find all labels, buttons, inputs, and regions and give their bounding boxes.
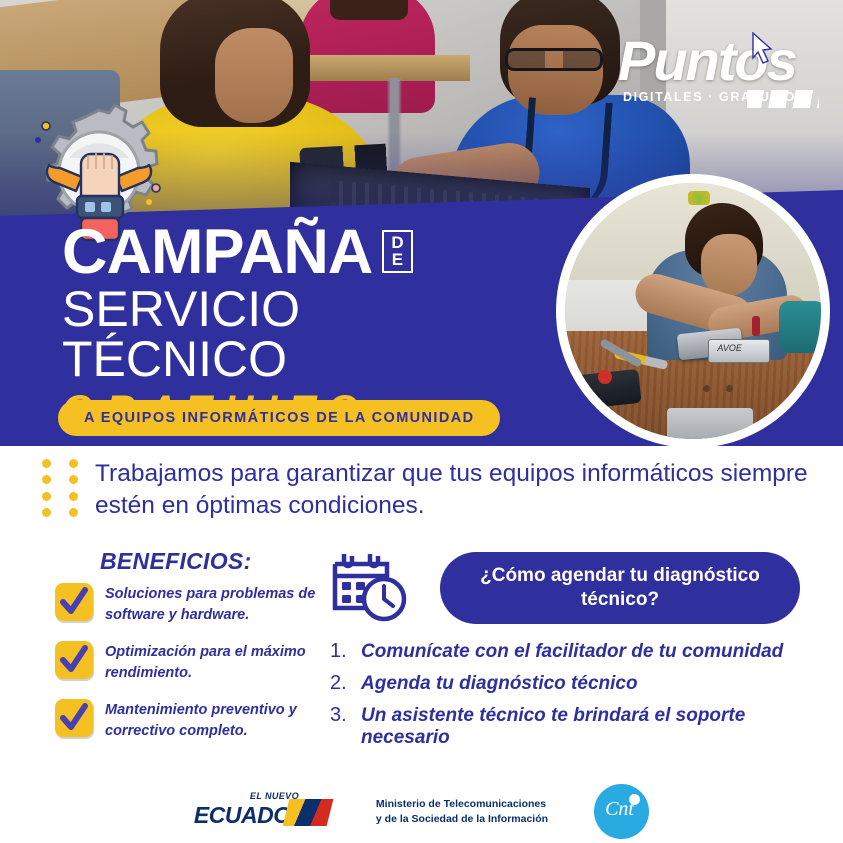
howto-heading-label: ¿Cómo agendar tu diagnóstico técnico? bbox=[466, 564, 774, 612]
calendar-clock-icon bbox=[330, 552, 408, 624]
poster-root: Puntos DIGITALES · GRATUITOS bbox=[0, 0, 843, 843]
howto-step: 3. Un asistente técnico te brindará el s… bbox=[330, 704, 830, 749]
howto-step-number: 2. bbox=[330, 672, 352, 695]
benefit-item-label: Optimización para el máximo rendimiento. bbox=[105, 641, 330, 683]
ministry-line-1: Ministerio de Telecomunicaciones bbox=[376, 797, 548, 811]
benefits-title: BENEFICIOS: bbox=[100, 548, 330, 575]
howto-step-number: 3. bbox=[330, 704, 352, 727]
lead-paragraph: Trabajamos para garantizar que tus equip… bbox=[95, 458, 815, 523]
howto-heading-pill: ¿Cómo agendar tu diagnóstico técnico? bbox=[440, 552, 800, 624]
ecuador-logo: EL NUEVO ECUADOR bbox=[194, 791, 330, 833]
cnt-logo-dot bbox=[629, 794, 640, 805]
cursor-pointer-icon bbox=[749, 32, 775, 66]
hero-de-box: D E bbox=[382, 230, 412, 273]
benefits-section: BENEFICIOS: Soluciones para problemas de… bbox=[55, 548, 330, 757]
hero-de-bottom: E bbox=[391, 251, 403, 268]
footer-logos: EL NUEVO ECUADOR Ministerio de Telecomun… bbox=[0, 780, 843, 843]
howto-step-label: Un asistente técnico te brindará el sopo… bbox=[361, 705, 830, 749]
howto-step-number: 1. bbox=[330, 640, 352, 663]
hero-title-line1: CAMPAÑA bbox=[62, 224, 372, 282]
puntos-logo: Puntos DIGITALES · GRATUITOS bbox=[618, 28, 823, 113]
benefit-item-label: Mantenimiento preventivo y correctivo co… bbox=[105, 699, 330, 741]
howto-step: 2. Agenda tu diagnóstico técnico bbox=[330, 672, 830, 695]
howto-step: 1. Comunícate con el facilitador de tu c… bbox=[330, 640, 830, 663]
benefit-item: Optimización para el máximo rendimiento. bbox=[55, 641, 330, 683]
ecuador-flag-icon bbox=[283, 799, 334, 826]
ministry-logo: Ministerio de Telecomunicaciones y de la… bbox=[376, 797, 548, 825]
dot-grid-decoration bbox=[42, 459, 88, 517]
howto-step-label: Agenda tu diagnóstico técnico bbox=[361, 673, 638, 695]
hero-subtitle-badge-label: A EQUIPOS INFORMÁTICOS DE LA COMUNIDAD bbox=[84, 410, 474, 426]
check-icon bbox=[55, 583, 93, 621]
check-icon bbox=[55, 699, 93, 737]
hero-de-top: D bbox=[391, 234, 403, 251]
ministry-line-2: y de la Sociedad de la Información bbox=[376, 812, 548, 826]
howto-steps-list: 1. Comunícate con el facilitador de tu c… bbox=[330, 640, 830, 758]
howto-step-label: Comunícate con el facilitador de tu comu… bbox=[361, 641, 783, 663]
cnt-logo-icon: Cnt bbox=[594, 784, 649, 839]
hero-title-line2: SERVICIO TÉCNICO bbox=[62, 284, 482, 384]
benefit-item-label: Soluciones para problemas de software y … bbox=[105, 583, 330, 625]
hero-circle-photo: AVOE bbox=[556, 174, 830, 448]
hero-subtitle-badge: A EQUIPOS INFORMÁTICOS DE LA COMUNIDAD bbox=[58, 400, 500, 436]
benefit-item: Mantenimiento preventivo y correctivo co… bbox=[55, 699, 330, 741]
puntos-logo-bars bbox=[747, 90, 819, 108]
benefit-item: Soluciones para problemas de software y … bbox=[55, 583, 330, 625]
check-icon bbox=[55, 641, 93, 679]
